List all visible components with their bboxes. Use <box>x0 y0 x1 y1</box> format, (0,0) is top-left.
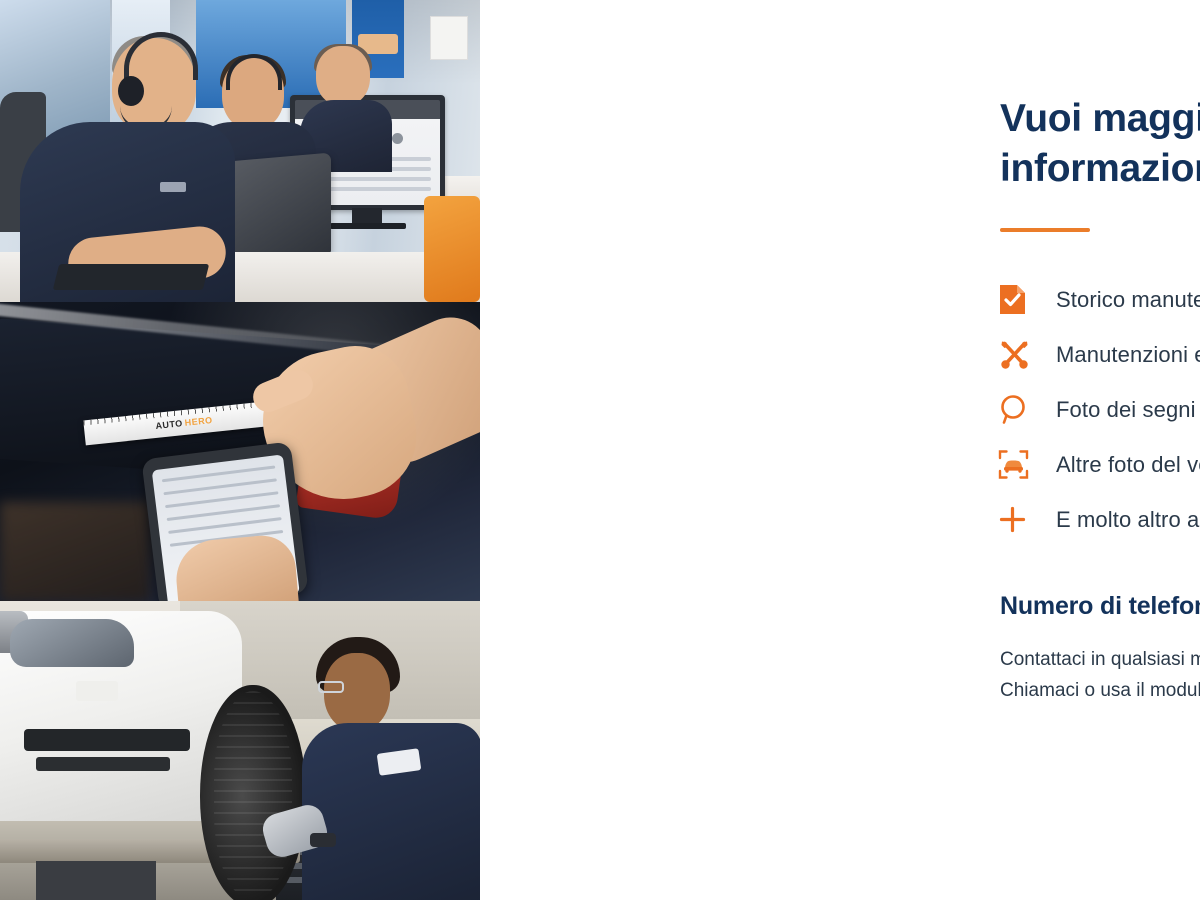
mechanic-wheel-inspection-photo <box>0 601 480 900</box>
feature-item-molto-altro: E molto altro ancora <box>998 492 1200 547</box>
title-underline-rule <box>1000 228 1090 232</box>
feature-list: Storico manutentivo Manutenzi <box>998 272 1200 547</box>
contact-subtext-line-2: Chiamaci o usa il modulo di contatto. <box>1000 680 1200 701</box>
feature-label: Storico manutentivo <box>1056 287 1200 313</box>
contact-subtext-line-1: Contattaci in qualsiasi momento per ulte… <box>1000 649 1200 670</box>
feature-item-altre-foto-veicolo: Altre foto del veicolo <box>998 437 1200 492</box>
feature-item-manutenzioni-effettuate: Manutenzioni effettuate <box>998 327 1200 382</box>
photo-column: AUTOHERO <box>0 0 480 900</box>
plus-icon <box>998 505 1056 534</box>
car-scan-icon <box>998 449 1056 480</box>
feature-item-foto-segni-usura: Foto dei segni di usura <box>998 382 1200 437</box>
headline-line-2: informazioni su ? <box>1000 147 1200 190</box>
headline-line-1: Vuoi maggiori <box>1000 97 1200 140</box>
feature-item-storico-manutentivo: Storico manutentivo <box>998 272 1200 327</box>
call-center-agents-photo <box>0 0 480 302</box>
autohero-ruler-inspection-photo: AUTOHERO <box>0 302 480 601</box>
feature-label: Manutenzioni effettuate <box>1056 342 1200 368</box>
magnifier-icon <box>998 394 1056 425</box>
promo-panel: AUTOHERO <box>0 0 1200 900</box>
feature-label: E molto altro ancora <box>1056 507 1200 533</box>
page-title: Vuoi maggiori informazioni su ? <box>1000 94 1200 194</box>
feature-label: Altre foto del veicolo <box>1056 452 1200 478</box>
wrench-screwdriver-icon <box>998 338 1056 371</box>
document-check-icon <box>998 283 1056 316</box>
phone-number-label: Numero di telefono: +390238583852 <box>1000 592 1200 621</box>
feature-label: Foto dei segni di usura <box>1056 397 1200 423</box>
content-column: Vuoi maggiori informazioni su ? Saremo f… <box>480 0 1200 900</box>
contact-subtext: Contattaci in qualsiasi momento per ulte… <box>1000 645 1200 707</box>
